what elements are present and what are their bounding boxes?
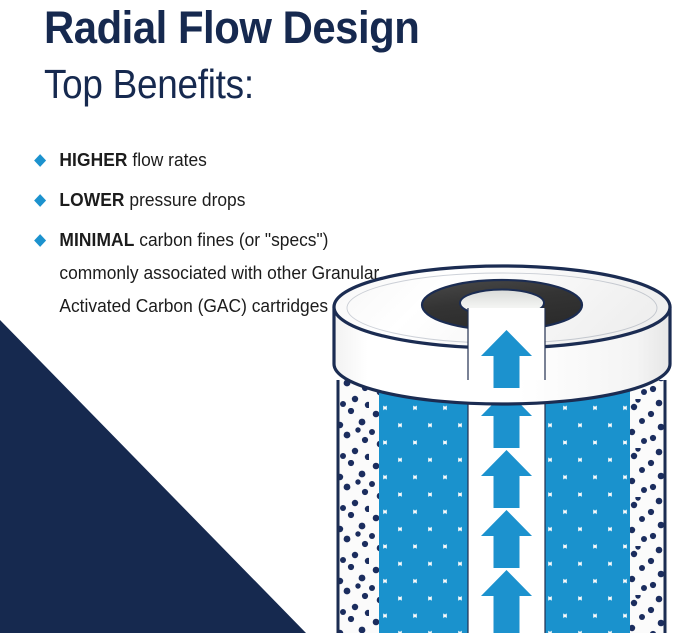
- list-item: MINIMAL carbon fines (or "specs") common…: [34, 223, 391, 322]
- list-item: LOWER pressure drops: [34, 183, 391, 216]
- benefit-lead: HIGHER: [59, 149, 127, 170]
- diamond-bullet-icon: [34, 154, 46, 167]
- page-title: Radial Flow Design: [44, 2, 528, 54]
- fines-dots-left: [339, 380, 379, 633]
- benefit-rest: pressure drops: [125, 189, 246, 210]
- honeycomb-media-right: [545, 380, 630, 633]
- diamond-bullet-icon: [34, 194, 46, 207]
- page-subtitle: Top Benefits:: [44, 54, 512, 108]
- infographic-canvas: Radial Flow Design Top Benefits: HIGHER …: [0, 0, 679, 633]
- benefit-rest: flow rates: [128, 149, 207, 170]
- diamond-bullet-icon: [34, 234, 46, 247]
- benefit-lead: LOWER: [59, 189, 124, 210]
- list-item: HIGHER flow rates: [34, 143, 391, 176]
- heading-block: Radial Flow Design Top Benefits:: [44, 2, 564, 108]
- benefit-lead: MINIMAL: [59, 229, 134, 250]
- benefits-list: HIGHER flow rates LOWER pressure drops M…: [34, 143, 414, 329]
- fines-dots-right: [630, 380, 666, 633]
- honeycomb-media-left: [379, 380, 468, 633]
